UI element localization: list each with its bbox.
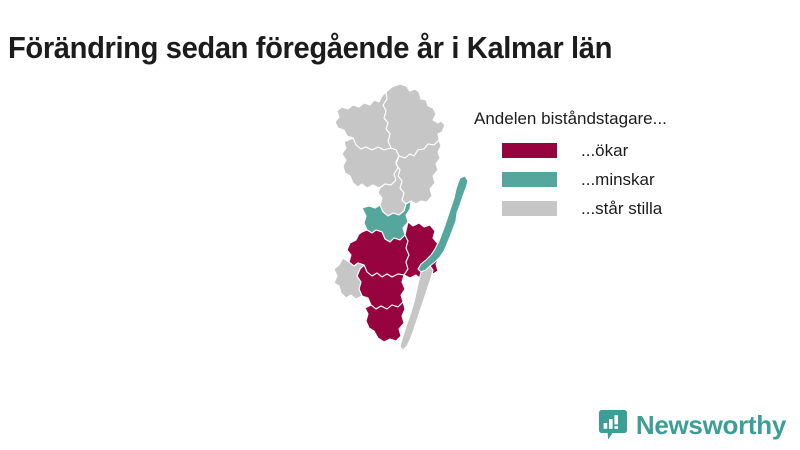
map-svg [320, 80, 500, 370]
legend-swatch-increase [502, 143, 557, 158]
legend-label-decrease: ...minskar [581, 170, 655, 190]
legend-item-increase[interactable]: ...ökar [474, 136, 774, 165]
choropleth-map [320, 80, 500, 370]
newsworthy-bar-chart-bubble-icon [599, 410, 627, 440]
legend-title: Andelen biståndstagare... [474, 108, 774, 130]
map-region-vimmerby[interactable] [335, 92, 391, 150]
legend-item-decrease[interactable]: ...minskar [474, 165, 774, 194]
legend-label-increase: ...ökar [581, 141, 628, 161]
legend-label-flat: ...står stilla [581, 199, 662, 219]
legend-swatch-flat [502, 201, 557, 216]
legend-item-flat[interactable]: ...står stilla [474, 194, 774, 223]
page-title: Förändring sedan föregående år i Kalmar … [8, 29, 745, 67]
newsworthy-wordmark: Newsworthy [636, 410, 786, 440]
newsworthy-logo[interactable]: Newsworthy [599, 408, 786, 442]
legend-swatch-decrease [502, 172, 557, 187]
legend: Andelen biståndstagare... ...ökar ...min… [474, 108, 774, 223]
map-region-torsas[interactable] [365, 302, 405, 342]
